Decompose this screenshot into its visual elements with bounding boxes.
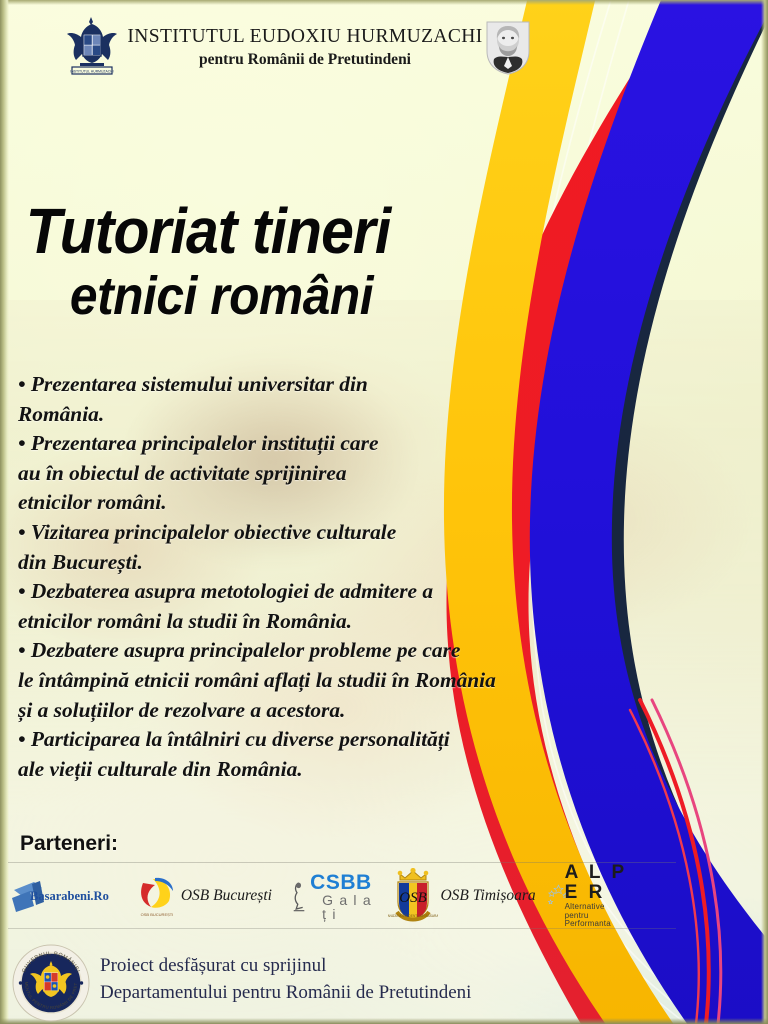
partner-csbb-galati[interactable]: CSBB G a l a ț i: [288, 866, 377, 926]
partners-logo-row: Basarabeni.Ro OSB BUCUREȘTI OSB Bucureșt…: [8, 866, 608, 926]
poster-root: INSTITUTUL HURMUZACHI INSTITUTUL EUDOXIU…: [0, 0, 768, 1024]
svg-text:ORGANIZATIA STUDENTILOR BASARA: ORGANIZATIA STUDENTILOR BASARABENI: [388, 914, 438, 918]
partner-galati-label: G a l a ț i: [322, 893, 376, 921]
partner-alper[interactable]: A L P E R Alternative pentru Performanta: [546, 866, 630, 926]
title-line-1: Tutoriat tineri: [0, 196, 515, 266]
partner-osb-bucuresti[interactable]: OSB BUCUREȘTI OSB București: [135, 866, 272, 926]
partner-osb-timisoara[interactable]: OSB ORGANIZATIA STUDENTILOR BASARABENI O…: [388, 866, 535, 926]
footer-text: Proiect desfășurat cu sprijinul Departam…: [100, 952, 471, 1006]
bullet-line: • Prezentarea principalelor instituții c…: [0, 429, 640, 459]
partner-alper-label: A L P E R: [565, 863, 630, 903]
partners-label: Parteneri:: [20, 832, 118, 856]
eudoxiu-hurmuzachi-portrait-icon: [484, 19, 532, 75]
svg-text:INSTITUTUL HURMUZACHI: INSTITUTUL HURMUZACHI: [70, 69, 113, 73]
footer-line-1: Proiect desfășurat cu sprijinul: [100, 952, 471, 979]
svg-text:OSB: OSB: [400, 890, 428, 906]
bullet-line: etnicilor români la studii în România.: [0, 607, 640, 637]
partner-basarabeni[interactable]: Basarabeni.Ro: [8, 866, 109, 926]
institute-subtitle: pentru Românii de Pretutindeni: [125, 51, 485, 69]
bullet-line: etnicilor români.: [0, 488, 640, 518]
osb-bucuresti-swoosh-icon: OSB BUCUREȘTI: [135, 873, 179, 919]
page-title: Tutoriat tineri etnici români: [0, 196, 560, 326]
footer-line-2: Departamentului pentru Românii de Pretut…: [100, 979, 471, 1006]
bullet-line: • Dezbaterea asupra metotologiei de admi…: [0, 577, 640, 607]
partner-osb-timisoara-label: OSB Timișoara: [440, 887, 535, 905]
partner-basarabeni-label: Basarabeni.Ro: [30, 889, 109, 904]
partner-alper-tagline: Alternative pentru Performanta: [565, 903, 630, 928]
bullet-line: au în obiectul de activitate sprijinirea: [0, 459, 640, 489]
bullet-line: din București.: [0, 548, 640, 578]
border-bottom: [0, 1018, 768, 1024]
partner-osb-bucuresti-label: OSB București: [181, 887, 272, 905]
osb-bucuresti-sub: OSB BUCUREȘTI: [140, 912, 173, 917]
bullet-line: și a soluțiilor de rezolvare a acestora.: [0, 696, 640, 726]
border-right: [761, 0, 768, 1024]
border-top: [0, 0, 768, 5]
bullet-line: ale vieții culturale din România.: [0, 755, 640, 785]
bullet-line: România.: [0, 400, 640, 430]
bullet-line: • Dezbatere asupra principalelor problem…: [0, 636, 640, 666]
bullet-line: • Prezentarea sistemului universitar din: [0, 370, 640, 400]
romanian-eagle-crest-icon: INSTITUTUL HURMUZACHI: [64, 14, 120, 76]
guvernul-romaniei-seal-icon: GUVERNUL ROMÂNIEI DEPARTAMENTUL PENTRU R…: [12, 944, 90, 1022]
bullet-line: • Participarea la întâlniri cu diverse p…: [0, 725, 640, 755]
partner-csbb-label: CSBB: [310, 872, 376, 893]
bullet-line: le întâmpină etnicii români aflați la st…: [0, 666, 640, 696]
bullet-list: • Prezentarea sistemului universitar din…: [0, 370, 640, 784]
osb-timisoara-crest-icon: OSB ORGANIZATIA STUDENTILOR BASARABENI: [388, 868, 438, 924]
bullet-line: • Vizitarea principalelor obiective cult…: [0, 518, 640, 548]
institute-name: INSTITUTUL EUDOXIU HURMUZACHI: [125, 26, 485, 48]
csbb-galati-logo-icon: [288, 874, 309, 918]
header: INSTITUTUL HURMUZACHI INSTITUTUL EUDOXIU…: [0, 8, 560, 78]
title-line-2: etnici români: [0, 266, 515, 326]
